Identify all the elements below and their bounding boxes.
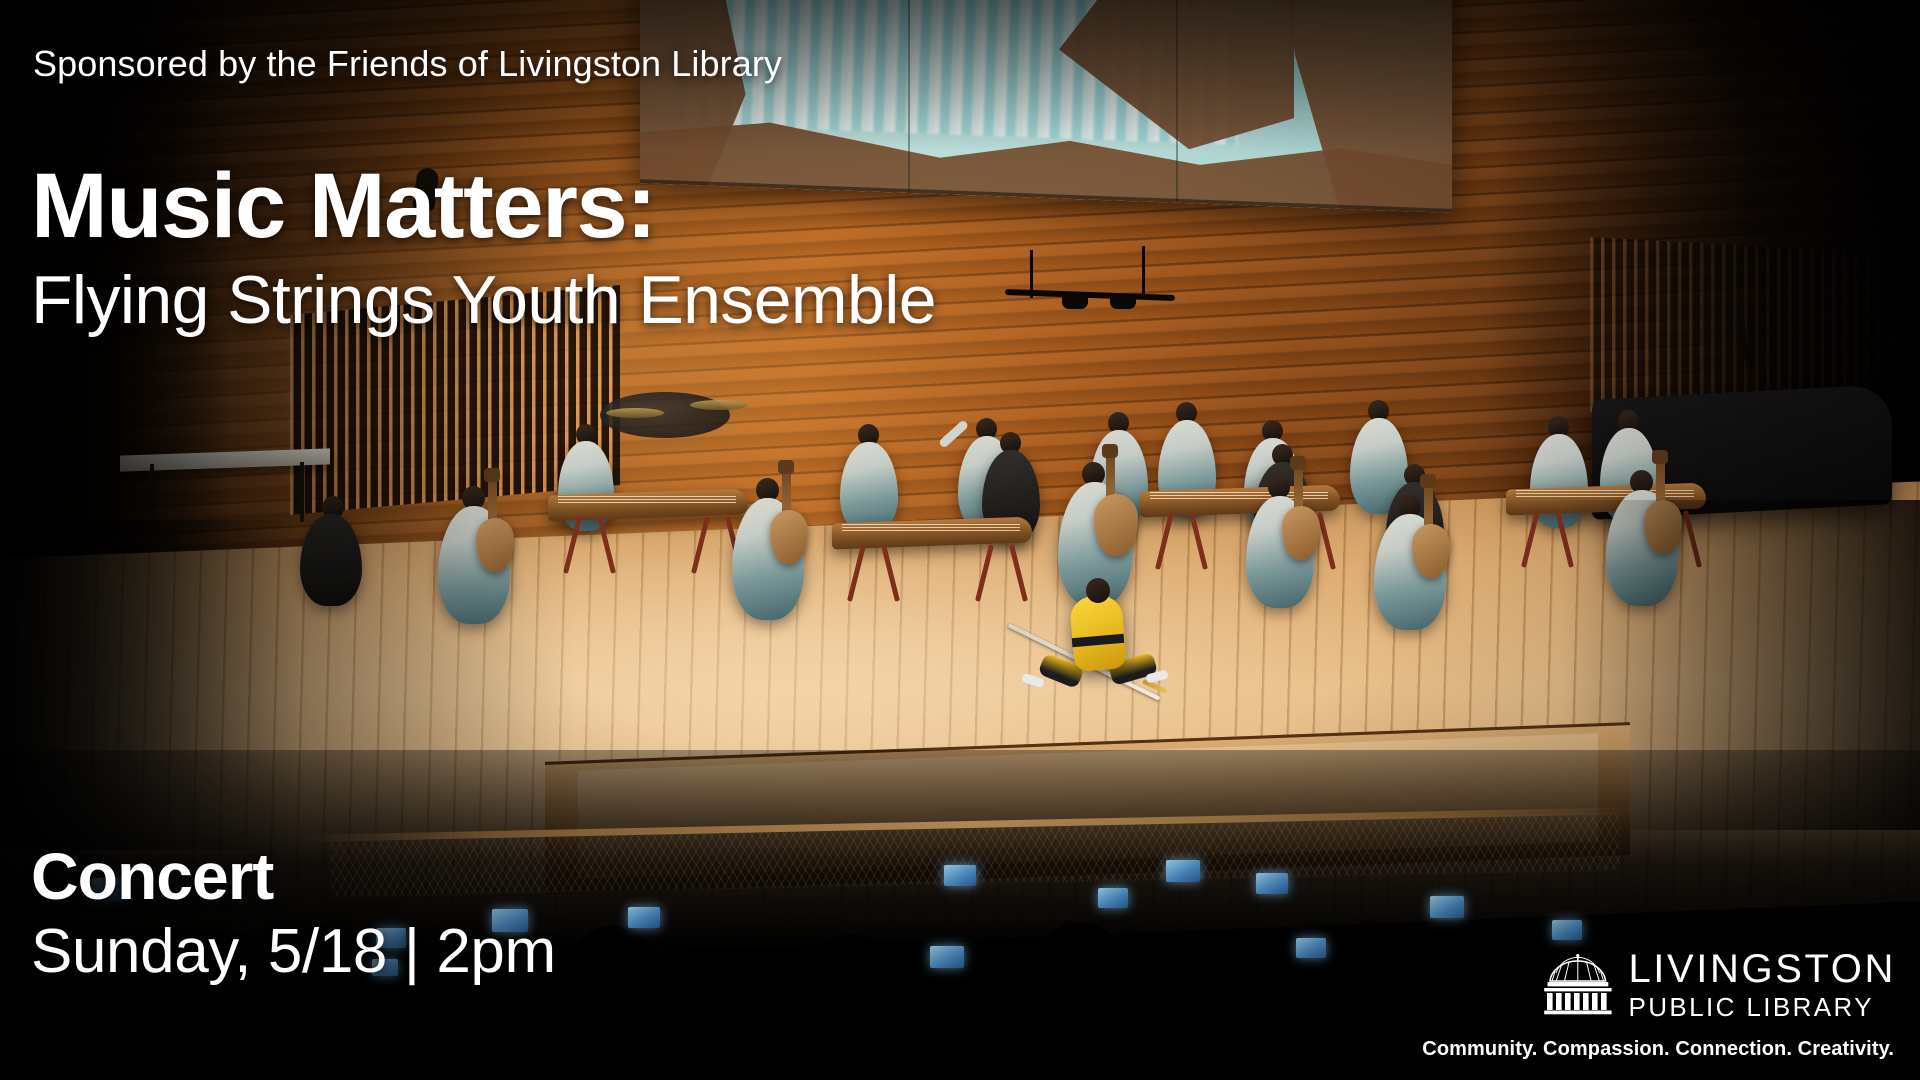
- screen-frame: [640, 0, 1452, 213]
- wushu-performer-head: [1086, 578, 1110, 603]
- audience-head: [560, 926, 666, 1080]
- library-rotunda-dome-icon: [1542, 954, 1614, 1016]
- cymbal-right: [690, 400, 748, 410]
- audience-head: [1150, 952, 1246, 1080]
- page-title: Music Matters:: [31, 160, 656, 252]
- event-datetime: Sunday, 5/18 | 2pm: [31, 921, 556, 983]
- audience-head: [1026, 922, 1134, 1080]
- logo-wordmark: LIVINGSTON PUBLIC LIBRARY: [1628, 949, 1896, 1020]
- stage-lamp-left: [1062, 296, 1088, 309]
- event-type-label: Concert: [31, 843, 273, 909]
- table-leg-1: [150, 464, 154, 524]
- logo-line-2: PUBLIC LIBRARY: [1628, 994, 1896, 1020]
- event-poster: Sponsored by the Friends of Livingston L…: [0, 0, 1920, 1080]
- logo-line-1: LIVINGSTON: [1628, 949, 1896, 989]
- audience-phone-screen: [1552, 920, 1582, 940]
- audience-head: [1378, 956, 1472, 1080]
- stage-lamp-right: [1110, 296, 1136, 309]
- library-logo: LIVINGSTON PUBLIC LIBRARY: [1542, 949, 1896, 1020]
- cymbal-left: [606, 408, 664, 418]
- sponsor-line: Sponsored by the Friends of Livingston L…: [33, 43, 782, 85]
- audience-phone-screen: [944, 865, 976, 886]
- audience-head: [686, 954, 782, 1080]
- audience-phone-screen: [930, 946, 964, 968]
- page-subtitle: Flying Strings Youth Ensemble: [31, 266, 936, 334]
- audience-phone-screen: [1098, 888, 1128, 908]
- audience-head: [798, 934, 900, 1080]
- audience-phone-screen: [1296, 938, 1326, 958]
- table-leg-2: [300, 462, 304, 522]
- wushu-performer-costume: [1069, 594, 1127, 672]
- audience-head: [918, 960, 1012, 1080]
- audience-phone-screen: [1166, 860, 1200, 882]
- rig-drop-right: [1142, 246, 1145, 298]
- audience-phone-screen: [1256, 873, 1288, 894]
- audience-area: [0, 750, 1920, 1080]
- audience-phone-screen: [628, 907, 660, 928]
- audience-phone-screen: [1430, 896, 1464, 918]
- library-tagline: Community. Compassion. Connection. Creat…: [1422, 1038, 1894, 1061]
- projection-screen: [640, 0, 1452, 213]
